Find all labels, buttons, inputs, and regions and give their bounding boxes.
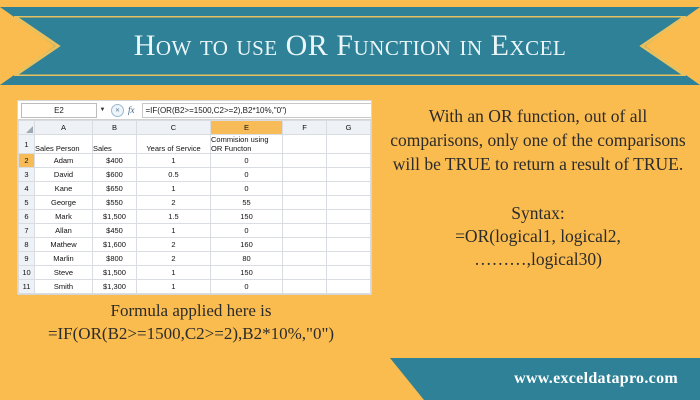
row-header-4[interactable]: 4	[19, 182, 35, 196]
table-row: 9Marlin$800280	[19, 252, 371, 266]
cell-b8[interactable]: $1,600	[93, 238, 137, 252]
website-url[interactable]: www.exceldatapro.com	[514, 358, 678, 400]
row-header-10[interactable]: 10	[19, 266, 35, 280]
cell-e10[interactable]: 150	[211, 266, 283, 280]
banner-ribbon: How to use OR Function in Excel	[0, 7, 700, 85]
cell-a4[interactable]: Kane	[35, 182, 93, 196]
cell-a3[interactable]: David	[35, 168, 93, 182]
name-box[interactable]: E2	[21, 103, 97, 118]
cell-f11[interactable]	[283, 280, 327, 294]
syntax-block: Syntax: =OR(logical1, logical2, ………,logi…	[388, 202, 688, 271]
cell-c11[interactable]: 1	[137, 280, 211, 294]
table-row: 11Smith$1,30010	[19, 280, 371, 294]
cell-b9[interactable]: $800	[93, 252, 137, 266]
page-title: How to use OR Function in Excel	[0, 7, 700, 85]
syntax-line-1: =OR(logical1, logical2,	[388, 225, 688, 248]
cell-a1[interactable]: Sales Person	[35, 135, 93, 154]
cell-a8[interactable]: Mathew	[35, 238, 93, 252]
cell-c4[interactable]: 1	[137, 182, 211, 196]
cell-a7[interactable]: Allan	[35, 224, 93, 238]
column-header-c[interactable]: C	[137, 121, 211, 135]
cell-e7[interactable]: 0	[211, 224, 283, 238]
cell-e1-line1: Commision using	[211, 135, 269, 144]
table-row: 10Steve$1,5001150	[19, 266, 371, 280]
cell-e3[interactable]: 0	[211, 168, 283, 182]
table-row: 2Adam$40010	[19, 154, 371, 168]
column-header-a[interactable]: A	[35, 121, 93, 135]
table-row-header: 1 Sales Person Sales Years of Service Co…	[19, 135, 371, 154]
cell-c7[interactable]: 1	[137, 224, 211, 238]
column-header-g[interactable]: G	[327, 121, 371, 135]
syntax-label: Syntax:	[388, 202, 688, 225]
cell-g8[interactable]	[327, 238, 371, 252]
cell-b10[interactable]: $1,500	[93, 266, 137, 280]
cell-g9[interactable]	[327, 252, 371, 266]
formula-bar-buttons: ✕ fx	[108, 104, 142, 117]
cell-c10[interactable]: 1	[137, 266, 211, 280]
row-header-2[interactable]: 2	[19, 154, 35, 168]
column-header-e[interactable]: E	[211, 121, 283, 135]
cell-c2[interactable]: 1	[137, 154, 211, 168]
cell-b3[interactable]: $600	[93, 168, 137, 182]
row-header-6[interactable]: 6	[19, 210, 35, 224]
cell-a5[interactable]: George	[35, 196, 93, 210]
spreadsheet-grid: A B C E F G 1 Sales Person Sales Years o…	[18, 120, 371, 294]
cell-e5[interactable]: 55	[211, 196, 283, 210]
cell-b5[interactable]: $550	[93, 196, 137, 210]
excel-window: E2 ▼ ✕ fx =IF(OR(B2>=1500,C2>=2),B2*10%,…	[17, 100, 372, 295]
cell-g7[interactable]	[327, 224, 371, 238]
caption-line-2: =IF(OR(B2>=1500,C2>=2),B2*10%,"0")	[8, 322, 374, 346]
caption-line-1: Formula applied here is	[8, 300, 374, 322]
row-header-8[interactable]: 8	[19, 238, 35, 252]
cell-g2[interactable]	[327, 154, 371, 168]
table-row: 8Mathew$1,6002160	[19, 238, 371, 252]
cell-f2[interactable]	[283, 154, 327, 168]
cell-e11[interactable]: 0	[211, 280, 283, 294]
table-row: 4Kane$65010	[19, 182, 371, 196]
cell-a9[interactable]: Marlin	[35, 252, 93, 266]
cell-b7[interactable]: $450	[93, 224, 137, 238]
row-header-7[interactable]: 7	[19, 224, 35, 238]
cell-f9[interactable]	[283, 252, 327, 266]
cell-a2[interactable]: Adam	[35, 154, 93, 168]
column-header-b[interactable]: B	[93, 121, 137, 135]
row-header-1[interactable]: 1	[19, 135, 35, 154]
table-row: 3David$6000.50	[19, 168, 371, 182]
cell-b11[interactable]: $1,300	[93, 280, 137, 294]
row-header-9[interactable]: 9	[19, 252, 35, 266]
cell-g11[interactable]	[327, 280, 371, 294]
table-row: 6Mark$1,5001.5150	[19, 210, 371, 224]
cell-f5[interactable]	[283, 196, 327, 210]
chevron-down-icon[interactable]: ▼	[97, 103, 108, 118]
cell-f6[interactable]	[283, 210, 327, 224]
poster-canvas: How to use OR Function in Excel E2 ▼ ✕ f…	[0, 0, 700, 400]
cell-g10[interactable]	[327, 266, 371, 280]
formula-caption: Formula applied here is =IF(OR(B2>=1500,…	[8, 300, 374, 346]
cell-e1[interactable]: Commision using OR Functon	[211, 135, 283, 154]
table-row: 7Allan$45010	[19, 224, 371, 238]
column-header-row: A B C E F G	[19, 121, 371, 135]
cell-e8[interactable]: 160	[211, 238, 283, 252]
cell-g4[interactable]	[327, 182, 371, 196]
intro-paragraph: With an OR function, out of all comparis…	[388, 104, 688, 176]
cell-b1[interactable]: Sales	[93, 135, 137, 154]
syntax-line-2: ………,logical30)	[388, 248, 688, 271]
row-header-3[interactable]: 3	[19, 168, 35, 182]
formula-bar: E2 ▼ ✕ fx =IF(OR(B2>=1500,C2>=2),B2*10%,…	[18, 101, 371, 120]
cell-a10[interactable]: Steve	[35, 266, 93, 280]
spreadsheet-body: 1 Sales Person Sales Years of Service Co…	[19, 135, 371, 294]
row-header-5[interactable]: 5	[19, 196, 35, 210]
explanation-panel: With an OR function, out of all comparis…	[388, 104, 688, 271]
footer-bar: www.exceldatapro.com	[0, 358, 700, 400]
cell-f4[interactable]	[283, 182, 327, 196]
cell-f7[interactable]	[283, 224, 327, 238]
cell-a6[interactable]: Mark	[35, 210, 93, 224]
table-row: 5George$550255	[19, 196, 371, 210]
cell-f3[interactable]	[283, 168, 327, 182]
row-header-11[interactable]: 11	[19, 280, 35, 294]
fx-icon[interactable]: fx	[128, 105, 137, 115]
cell-f1[interactable]	[283, 135, 327, 154]
cell-c9[interactable]: 2	[137, 252, 211, 266]
cell-g6[interactable]	[327, 210, 371, 224]
cell-e2[interactable]: 0	[211, 154, 283, 168]
column-header-f[interactable]: F	[283, 121, 327, 135]
cell-c3[interactable]: 0.5	[137, 168, 211, 182]
cell-f8[interactable]	[283, 238, 327, 252]
cell-g5[interactable]	[327, 196, 371, 210]
cell-c8[interactable]: 2	[137, 238, 211, 252]
cell-e9[interactable]: 80	[211, 252, 283, 266]
cell-c1[interactable]: Years of Service	[137, 135, 211, 154]
cell-a11[interactable]: Smith	[35, 280, 93, 294]
cell-b4[interactable]: $650	[93, 182, 137, 196]
cell-e6[interactable]: 150	[211, 210, 283, 224]
cell-e4[interactable]: 0	[211, 182, 283, 196]
cancel-icon[interactable]: ✕	[111, 104, 124, 117]
cell-b2[interactable]: $400	[93, 154, 137, 168]
cell-g1[interactable]	[327, 135, 371, 154]
cell-f10[interactable]	[283, 266, 327, 280]
cell-c6[interactable]: 1.5	[137, 210, 211, 224]
cell-e1-line2: OR Functon	[211, 144, 251, 153]
select-all-corner[interactable]	[19, 121, 35, 135]
cell-g3[interactable]	[327, 168, 371, 182]
cell-b6[interactable]: $1,500	[93, 210, 137, 224]
formula-input[interactable]: =IF(OR(B2>=1500,C2>=2),B2*10%,"0")	[142, 103, 372, 118]
cell-c5[interactable]: 2	[137, 196, 211, 210]
